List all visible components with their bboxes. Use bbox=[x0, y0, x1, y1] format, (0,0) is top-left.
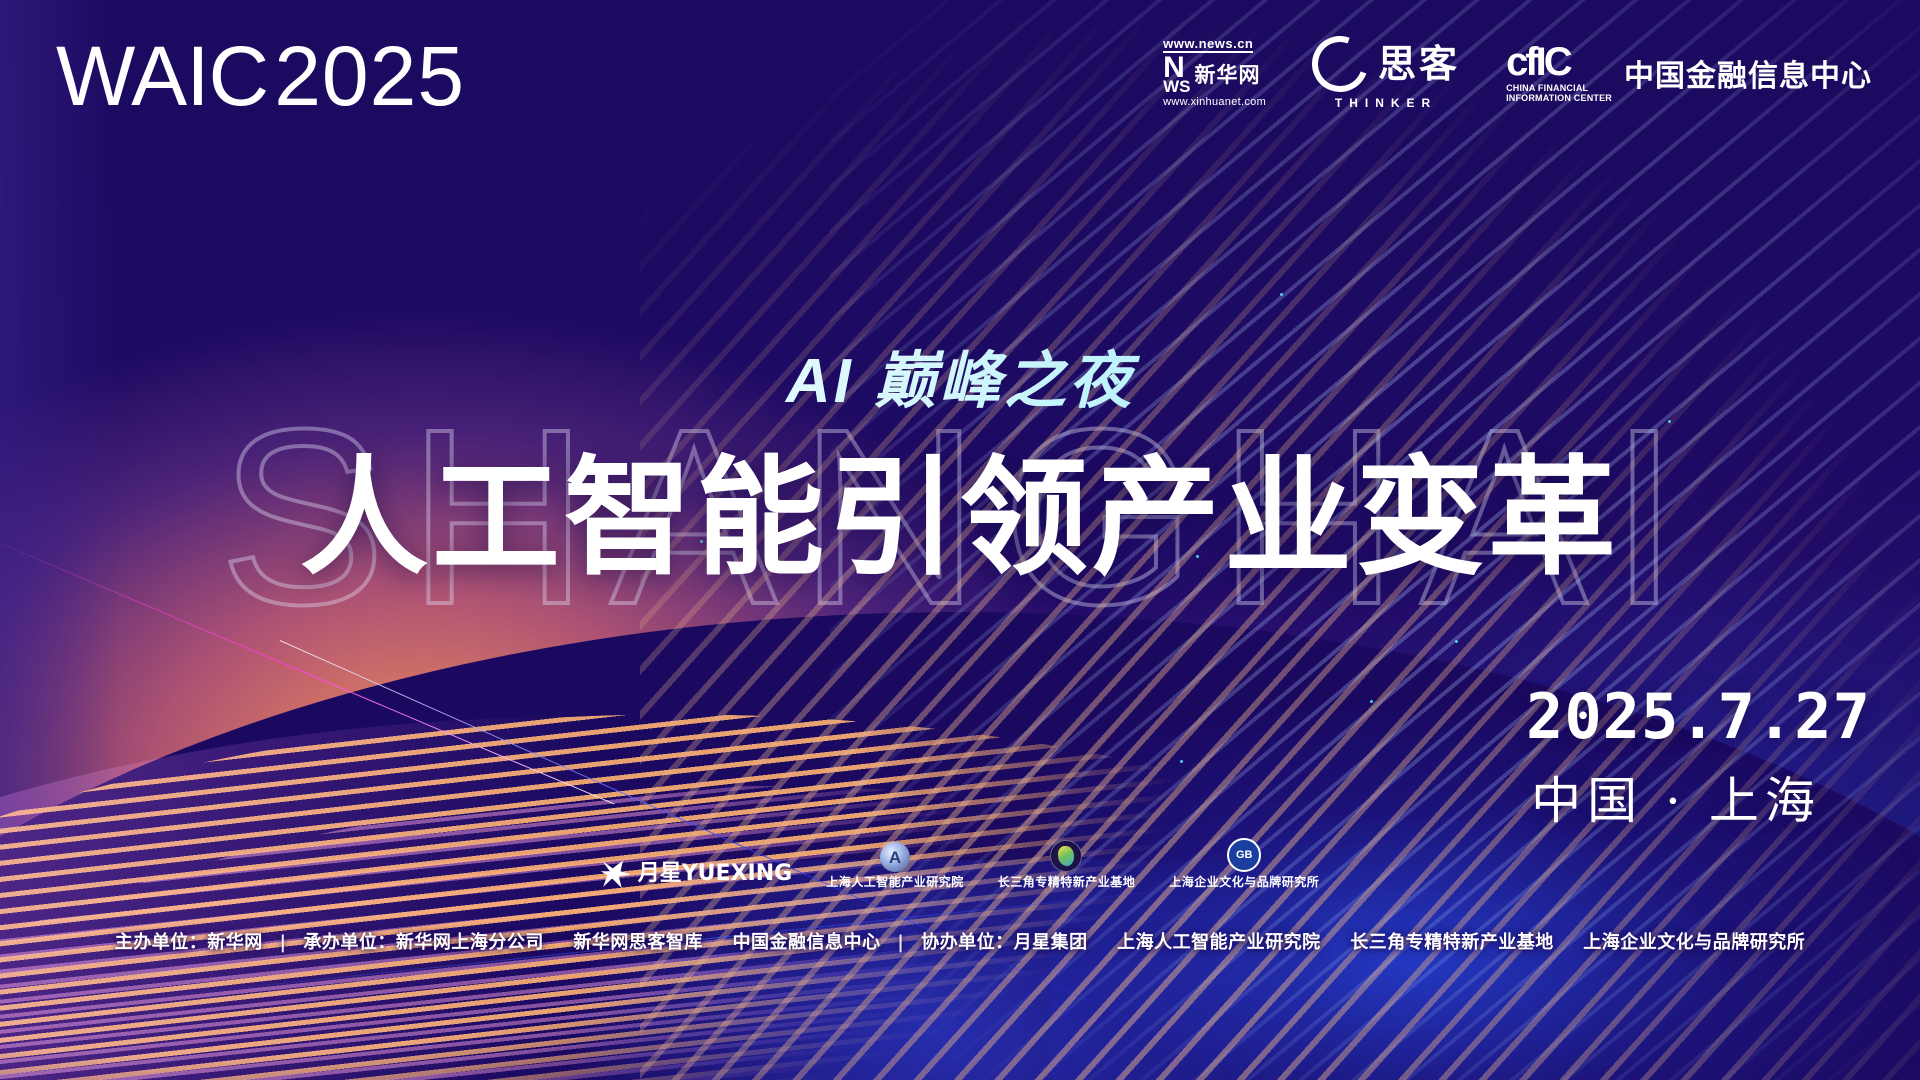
sponsor-shanghai-brand-institute: 上海企业文化与品牌研究所 bbox=[1169, 838, 1319, 888]
waic-logo-year: 2025 bbox=[274, 34, 465, 118]
xinhuanet-mark-line2: WS bbox=[1163, 80, 1190, 94]
sponsor-yrd-sme-base-label: 长三角专精特新产业基地 bbox=[998, 876, 1136, 888]
footer-coorganizer-extra-1: 上海人工智能产业研究院 bbox=[1117, 932, 1321, 953]
xinhuanet-url-bottom: www.xinhuanet.com bbox=[1163, 97, 1266, 108]
cfic-en-line2: INFORMATION CENTER bbox=[1506, 93, 1612, 103]
sponsor-shanghai-brand-institute-label: 上海企业文化与品牌研究所 bbox=[1169, 876, 1319, 888]
star-icon bbox=[601, 860, 631, 888]
globe-icon bbox=[880, 842, 910, 872]
cfic-mark: cfIC bbox=[1506, 42, 1612, 82]
sponsor-yuexing: 月星YUEXING bbox=[601, 860, 792, 888]
poster-canvas: SHANGHAI WAIC 2025 www.news.cn NWS 新华 bbox=[0, 0, 1920, 1080]
map-emblem-icon bbox=[1050, 840, 1082, 872]
footer-coorganizer-extra-2: 长三角专精特新产业基地 bbox=[1350, 932, 1554, 953]
event-date-block: 2025.7.27 中国 · 上海 bbox=[1526, 686, 1826, 826]
sponsor-logo-strip: 月星YUEXING 上海人工智能产业研究院 长三角专精特新产业基地 上海企业文化… bbox=[0, 838, 1920, 888]
sponsor-shanghai-ai-institute-label: 上海人工智能产业研究院 bbox=[826, 876, 964, 888]
footer-credits: 主办单位：新华网 | 承办单位：新华网上海分公司 新华网思客智库 中国金融信息中… bbox=[0, 928, 1920, 954]
header-bar: WAIC 2025 www.news.cn NWS 新华网 www.xinhua… bbox=[0, 0, 1920, 150]
footer-coorganizer-extra-3: 上海企业文化与品牌研究所 bbox=[1583, 932, 1805, 953]
thinker-logo: 思客 THINKER bbox=[1312, 36, 1460, 109]
cfic-cn-name: 中国金融信息中心 bbox=[1624, 51, 1872, 95]
footer-coorganizer: 协办单位：月星集团 bbox=[921, 932, 1088, 953]
event-location: 中国 · 上海 bbox=[1526, 776, 1826, 826]
sponsor-shanghai-ai-institute: 上海人工智能产业研究院 bbox=[826, 842, 964, 888]
sponsor-yrd-sme-base: 长三角专精特新产业基地 bbox=[998, 840, 1136, 888]
sparkle-dot bbox=[1180, 760, 1183, 763]
footer-separator-2: | bbox=[887, 932, 914, 953]
footer-organizer-extra-1: 新华网思客智库 bbox=[573, 932, 703, 953]
event-subtitle: AI 巅峰之夜 bbox=[0, 330, 1920, 420]
thinker-en-name: THINKER bbox=[1335, 97, 1437, 109]
partner-logo-row: www.news.cn NWS 新华网 www.xinhuanet.com 思客… bbox=[1163, 36, 1872, 109]
waic-logo-word: WAIC bbox=[56, 34, 268, 118]
seal-icon bbox=[1227, 838, 1261, 872]
sparkle-dot bbox=[1370, 700, 1373, 703]
swirl-icon bbox=[1303, 27, 1377, 101]
sparkle-dot bbox=[1280, 293, 1283, 296]
xinhuanet-logo: www.news.cn NWS 新华网 www.xinhuanet.com bbox=[1163, 37, 1266, 109]
event-headline: 人工智能引领产业变革 bbox=[0, 414, 1920, 599]
waic-logo: WAIC 2025 bbox=[56, 34, 465, 118]
cfic-logo: cfIC CHINA FINANCIAL INFORMATION CENTER … bbox=[1506, 42, 1872, 104]
event-date: 2025.7.27 bbox=[1526, 686, 1826, 748]
sponsor-yuexing-label: 月星YUEXING bbox=[638, 863, 792, 885]
footer-organizer: 承办单位：新华网上海分公司 bbox=[303, 932, 544, 953]
cfic-en-line1: CHINA FINANCIAL bbox=[1506, 83, 1588, 93]
footer-separator-1: | bbox=[269, 932, 296, 953]
sparkle-dot bbox=[1455, 640, 1458, 643]
xinhuanet-mark: NWS bbox=[1163, 56, 1190, 95]
footer-host: 主办单位：新华网 bbox=[115, 932, 263, 953]
thinker-cn-name: 思客 bbox=[1378, 45, 1460, 83]
xinhuanet-cn-name: 新华网 bbox=[1195, 65, 1261, 86]
footer-organizer-extra-2: 中国金融信息中心 bbox=[732, 932, 880, 953]
